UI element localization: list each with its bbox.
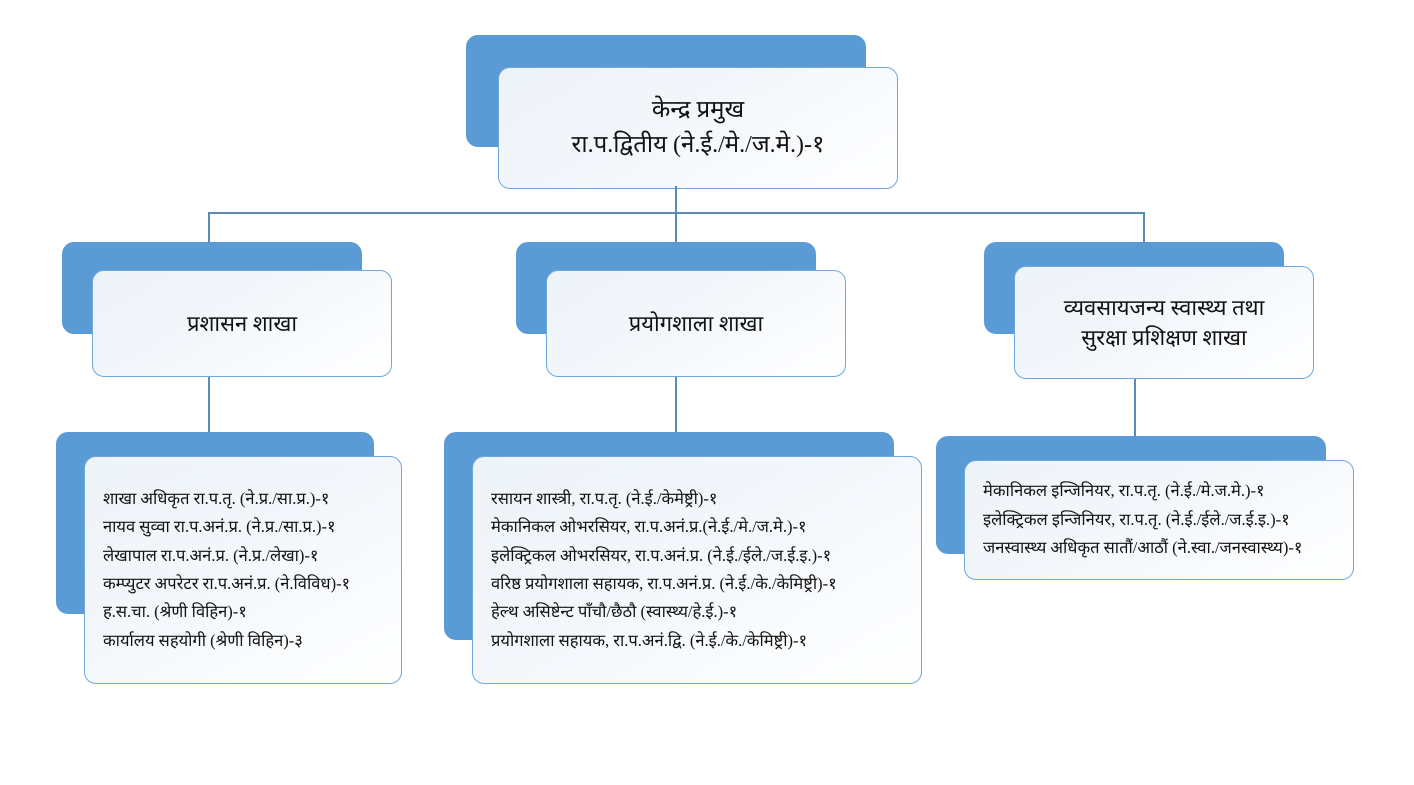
- root-subtitle: रा.प.द्वितीय (ने.ई./मे./ज.मे.)-१: [572, 128, 825, 163]
- branch-title: व्यवसायजन्य स्वास्थ्य तथा सुरक्षा प्रशिक…: [1064, 293, 1265, 352]
- connector-laboratory-to-detail: [675, 377, 677, 432]
- position-row: हेल्थ असिष्टेन्ट पाँचौ/छैठौ (स्वास्थ्य/ह…: [491, 598, 903, 626]
- position-row: जनस्वास्थ्य अधिकृत सातौं/आठौं (ने.स्वा./…: [983, 534, 1335, 562]
- position-row: मेकानिकल ओभरसियर, रा.प.अनं.प्र.(ने.ई./मे…: [491, 513, 903, 541]
- position-row: नायव सुव्वा रा.प.अनं.प्र. (ने.प्र./सा.प्…: [103, 513, 383, 541]
- position-row: ह.स.चा. (श्रेणी विहिन)-१: [103, 598, 383, 626]
- card-body: रसायन शास्त्री, रा.प.तृ. (ने.ई./केमेष्ट्…: [472, 456, 922, 684]
- card-body: मेकानिकल इन्जिनियर, रा.प.तृ. (ने.ई./मे.ज…: [964, 460, 1354, 580]
- position-row: लेखापाल रा.प.अनं.प्र. (ने.प्र./लेखा)-१: [103, 542, 383, 570]
- position-row: वरिष्ठ प्रयोगशाला सहायक, रा.प.अनं.प्र. (…: [491, 570, 903, 598]
- position-row: मेकानिकल इन्जिनियर, रा.प.तृ. (ने.ई./मे.ज…: [983, 477, 1335, 505]
- position-row: कार्यालय सहयोगी (श्रेणी विहिन)-३: [103, 627, 383, 655]
- connector-occupational-safety-to-detail: [1134, 379, 1136, 436]
- card-body: प्रयोगशाला शाखा: [546, 270, 846, 377]
- position-row: इलेक्ट्रिकल इन्जिनियर, रा.प.तृ. (ने.ई./ई…: [983, 506, 1335, 534]
- connector-administration-to-detail: [208, 377, 210, 437]
- position-row: कम्प्युटर अपरेटर रा.प.अनं.प्र. (ने.विविध…: [103, 570, 383, 598]
- position-row: प्रयोगशाला सहायक, रा.प.अनं.द्वि. (ने.ई./…: [491, 627, 903, 655]
- position-row: रसायन शास्त्री, रा.प.तृ. (ने.ई./केमेष्ट्…: [491, 485, 903, 513]
- branch-title: प्रयोगशाला शाखा: [629, 309, 764, 339]
- card-body: व्यवसायजन्य स्वास्थ्य तथा सुरक्षा प्रशिक…: [1014, 266, 1314, 379]
- root-title: केन्द्र प्रमुख: [652, 93, 744, 128]
- connector-root-stem: [675, 186, 677, 214]
- branch-title-line-2: सुरक्षा प्रशिक्षण शाखा: [1081, 325, 1247, 350]
- position-row: शाखा अधिकृत रा.प.तृ. (ने.प्र./सा.प्र.)-१: [103, 485, 383, 513]
- card-body: प्रशासन शाखा: [92, 270, 392, 377]
- card-body: केन्द्र प्रमुख रा.प.द्वितीय (ने.ई./मे./ज…: [498, 67, 898, 189]
- card-body: शाखा अधिकृत रा.प.तृ. (ने.प्र./सा.प्र.)-१…: [84, 456, 402, 684]
- position-row: इलेक्ट्रिकल ओभरसियर, रा.प.अनं.प्र. (ने.ई…: [491, 542, 903, 570]
- stray-ink-mark: 𝅵: [41, 733, 46, 758]
- branch-title-line-1: व्यवसायजन्य स्वास्थ्य तथा: [1064, 295, 1265, 320]
- branch-title: प्रशासन शाखा: [187, 309, 297, 339]
- org-chart-canvas: केन्द्र प्रमुख रा.प.द्वितीय (ने.ई./मे./ज…: [0, 0, 1414, 785]
